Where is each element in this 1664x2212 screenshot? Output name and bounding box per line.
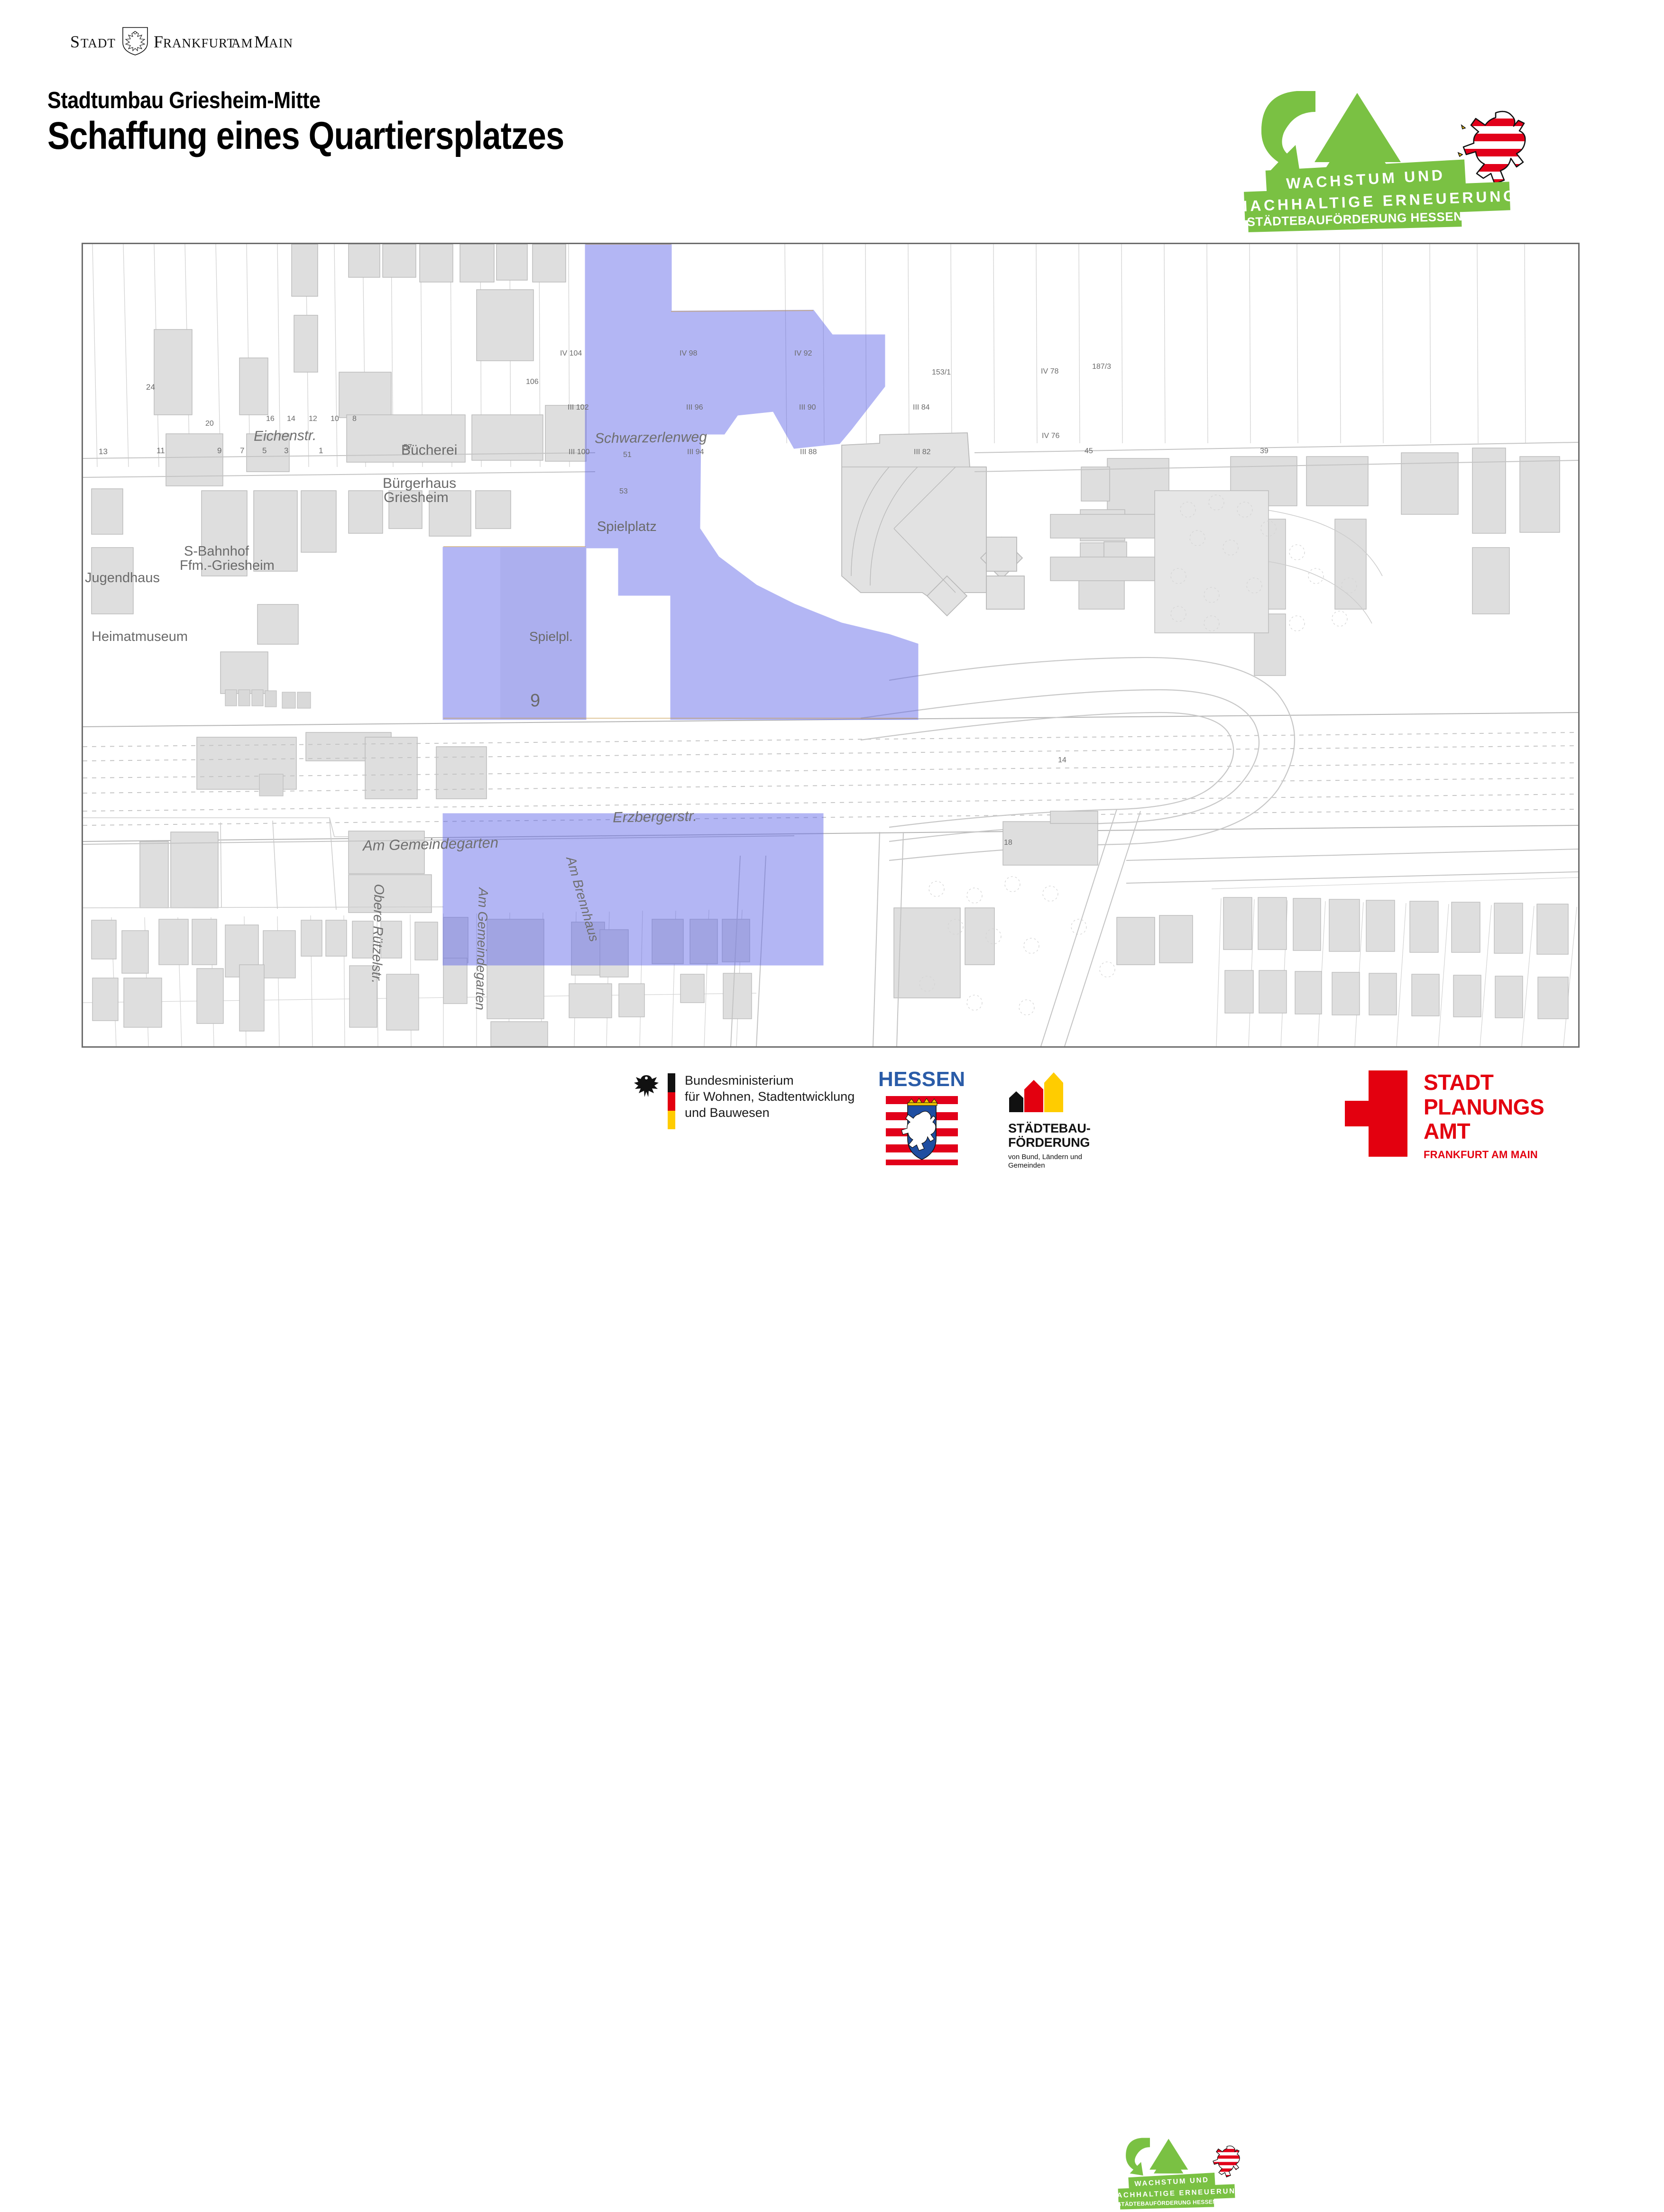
spa-line-3: AMT bbox=[1424, 1119, 1544, 1144]
street-label-erzbergerstr: Erzbergerstr. bbox=[613, 807, 698, 826]
parcel-number: IV 98 bbox=[680, 349, 697, 358]
svg-text:TADT: TADT bbox=[81, 36, 116, 50]
parcel-number: 18 bbox=[1004, 839, 1012, 847]
svg-text:M: M bbox=[254, 32, 269, 51]
parcel-number: 14 bbox=[1058, 756, 1066, 765]
parcel-number: 5 bbox=[262, 446, 267, 456]
street-label-obere-ruetzelstr: Obere Rützelstr. bbox=[368, 884, 386, 984]
parcel-number: 14 bbox=[287, 415, 295, 423]
place-label-spielplatz: Spielplatz bbox=[597, 519, 657, 535]
parcel-number: 153/1 bbox=[932, 368, 951, 377]
parcel-number: 20 bbox=[205, 420, 214, 428]
parcel-number: 13 bbox=[99, 447, 108, 457]
page-title: Schaffung eines Quartiersplatzes bbox=[47, 114, 564, 158]
hessen-coat-of-arms-icon bbox=[886, 1093, 958, 1165]
parcel-number: 9 bbox=[217, 446, 221, 456]
parcel-number: 10 bbox=[331, 415, 339, 423]
street-label-eichenstr: Eichenstr. bbox=[254, 428, 317, 445]
parcel-number: IV 92 bbox=[794, 349, 812, 358]
place-label-s-bahnhof: S-Bahnhof bbox=[184, 544, 249, 559]
parcel-number: 24 bbox=[146, 383, 155, 392]
staedtebau-sub-1: von Bund, Ländern und bbox=[1008, 1153, 1091, 1161]
bmwsb-line-3: und Bauwesen bbox=[685, 1105, 855, 1121]
badge-small-line-3: STÄDTEBAUFÖRDERUNG HESSEN bbox=[1120, 2196, 1214, 2209]
hessen-logo: HESSEN bbox=[878, 1068, 965, 1168]
place-label-jugendhaus: Jugendhaus bbox=[85, 570, 160, 586]
parcel-number: III 84 bbox=[913, 403, 930, 412]
spa-line-2: PLANUNGS bbox=[1424, 1095, 1544, 1120]
parcel-number: 53 bbox=[619, 487, 628, 496]
place-label-griesheim: Griesheim bbox=[384, 490, 449, 506]
parcel-number: 3 bbox=[284, 446, 288, 456]
staedtebau-line-2: FÖRDERUNG bbox=[1008, 1135, 1091, 1150]
parcel-number: IV 76 bbox=[1042, 432, 1059, 440]
parcel-number: III 102 bbox=[568, 403, 588, 412]
staedtebaufoerderung-logo: STÄDTEBAU- FÖRDERUNG von Bund, Ländern u… bbox=[1008, 1071, 1091, 1170]
parcel-number: IV 104 bbox=[560, 349, 582, 358]
street-label-am-gemeindegarten-vertical: Am Gemeindegarten bbox=[472, 887, 491, 1010]
parcel-number: III 82 bbox=[914, 448, 931, 457]
stadtplanungsamt-mark-icon bbox=[1323, 1070, 1407, 1157]
svg-text:F: F bbox=[154, 32, 163, 51]
parcel-number: 51 bbox=[623, 451, 632, 459]
parcel-number: 39 bbox=[1260, 447, 1269, 456]
place-label-heimatmuseum: Heimatmuseum bbox=[92, 629, 188, 645]
place-label-ffm-griesheim: Ffm.-Griesheim bbox=[180, 558, 275, 574]
parcel-number: 16 bbox=[266, 415, 275, 423]
place-label-nine: 9 bbox=[530, 691, 540, 711]
parcel-number: 187/3 bbox=[1092, 363, 1111, 371]
city-of-frankfurt-logo: S TADT F RANKFURT AM M AIN bbox=[70, 25, 369, 56]
parcel-number: III 90 bbox=[799, 403, 816, 412]
street-label-am-gemeindegarten: Am Gemeindegarten bbox=[363, 834, 499, 854]
project-subtitle: Stadtumbau Griesheim-Mitte bbox=[47, 87, 321, 114]
parcel-number: 11 bbox=[156, 446, 165, 456]
cadastral-map[interactable]: Eichenstr. Schwarzerlenweg Am Gemeindega… bbox=[82, 243, 1580, 1048]
parcel-number: 57 bbox=[404, 443, 412, 452]
wachstum-erneuerung-badge-small: WACHSTUM UND NACHHALTIGE ERNEUERUNG STÄD… bbox=[1118, 2136, 1270, 2212]
place-label-buergerhaus: Bürgerhaus bbox=[383, 475, 456, 492]
staedtebau-sub-2: Gemeinden bbox=[1008, 1161, 1091, 1170]
staedtebau-line-1: STÄDTEBAU- bbox=[1008, 1121, 1091, 1135]
svg-text:RANKFURT: RANKFURT bbox=[163, 36, 235, 50]
parcel-number: 7 bbox=[240, 446, 244, 456]
parcel-number: III 96 bbox=[686, 403, 703, 412]
three-houses-icon bbox=[1008, 1071, 1063, 1112]
street-label-schwarzerlenweg: Schwarzerlenweg bbox=[595, 429, 707, 447]
svg-text:AIN: AIN bbox=[269, 36, 293, 50]
map-graphics bbox=[83, 244, 1578, 1046]
parcel-number: 8 bbox=[352, 415, 357, 423]
stadtplanungsamt-logo: STADT PLANUNGS AMT FRANKFURT AM MAIN bbox=[1323, 1070, 1544, 1161]
parcel-number: 45 bbox=[1085, 447, 1093, 456]
place-label-spielpl: Spielpl. bbox=[529, 629, 573, 644]
parcel-number: III 88 bbox=[800, 448, 817, 457]
spa-line-1: STADT bbox=[1424, 1070, 1544, 1095]
federal-eagle-icon bbox=[631, 1072, 662, 1108]
parcel-number: 1 bbox=[319, 446, 323, 456]
parcel-number: 106 bbox=[526, 378, 539, 386]
parcel-number: III 100 bbox=[569, 448, 589, 457]
svg-text:AM: AM bbox=[231, 36, 253, 50]
parcel-number: III 94 bbox=[687, 448, 704, 457]
svg-text:S: S bbox=[70, 32, 80, 51]
hessen-wordmark: HESSEN bbox=[878, 1068, 965, 1091]
funding-logos-bar: Bundesministerium für Wohnen, Stadtentwi… bbox=[0, 1065, 1664, 1164]
bmwsb-line-2: für Wohnen, Stadtentwicklung bbox=[685, 1088, 855, 1105]
parcel-number: IV 78 bbox=[1041, 367, 1058, 376]
bmwsb-line-1: Bundesministerium bbox=[685, 1072, 855, 1088]
parcel-number: 12 bbox=[309, 415, 317, 423]
wachstum-erneuerung-badge: WACHSTUM UND NACHHALTIGE ERNEUERUNG STÄD… bbox=[1244, 91, 1586, 233]
spa-subtitle: FRANKFURT AM MAIN bbox=[1424, 1149, 1544, 1161]
bmwsb-logo: Bundesministerium für Wohnen, Stadtentwi… bbox=[631, 1072, 855, 1129]
